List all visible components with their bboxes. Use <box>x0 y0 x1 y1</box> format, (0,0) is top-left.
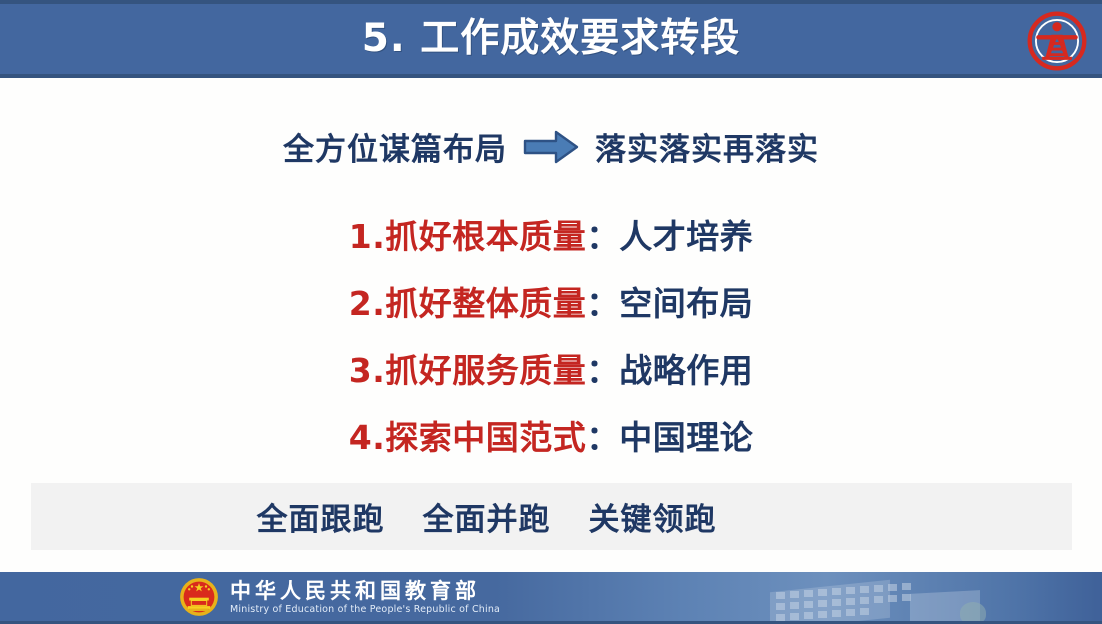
point-tail: 人才培养 <box>619 210 753 258</box>
list-item: 2.抓好整体质量 ： 空间布局 <box>0 267 1102 334</box>
list-item: 4.探索中国范式 ： 中国理论 <box>0 401 1102 468</box>
subtitle-right-text: 落实落实再落实 <box>595 124 819 169</box>
point-head: 3.抓好服务质量 <box>349 344 587 392</box>
national-emblem-of-china-icon <box>178 576 220 618</box>
ministry-building-photo <box>760 572 1060 624</box>
point-tail: 空间布局 <box>619 277 753 325</box>
point-tail: 中国理论 <box>619 411 753 459</box>
footer-title-en: Ministry of Education of the People's Re… <box>230 603 500 616</box>
list-item: 1.抓好根本质量 ： 人才培养 <box>0 200 1102 267</box>
point-head: 4.探索中国范式 <box>349 411 587 459</box>
point-tail: 战略作用 <box>619 344 753 392</box>
point-colon: ： <box>586 411 619 459</box>
summary-item: 关键领跑 <box>589 494 717 539</box>
list-item: 3.抓好服务质量 ： 战略作用 <box>0 334 1102 401</box>
point-head: 2.抓好整体质量 <box>349 277 587 325</box>
slide-canvas: 5. 工作成效要求转段 全方位谋篇布局 落实落实再落实 1.抓好根本质量 ： 人… <box>0 0 1102 624</box>
point-colon: ： <box>586 277 619 325</box>
summary-item: 全面跟跑 <box>257 494 385 539</box>
slide-footer: 中华人民共和国教育部 Ministry of Education of the … <box>0 572 1102 624</box>
footer-brand-texts: 中华人民共和国教育部 Ministry of Education of the … <box>230 578 500 616</box>
tianjin-university-emblem-icon <box>1026 10 1088 72</box>
points-list: 1.抓好根本质量 ： 人才培养 2.抓好整体质量 ： 空间布局 3.抓好服务质量… <box>0 200 1102 468</box>
subtitle-row: 全方位谋篇布局 落实落实再落实 <box>0 124 1102 169</box>
right-arrow-icon <box>523 130 579 164</box>
point-head: 1.抓好根本质量 <box>349 210 587 258</box>
slide-header: 5. 工作成效要求转段 <box>0 0 1102 78</box>
footer-title-cn: 中华人民共和国教育部 <box>230 578 500 603</box>
footer-brand: 中华人民共和国教育部 Ministry of Education of the … <box>178 576 500 618</box>
point-colon: ： <box>586 344 619 392</box>
summary-item: 全面并跑 <box>423 494 551 539</box>
summary-band-inner: 全面跟跑 全面并跑 关键领跑 <box>257 494 847 539</box>
subtitle-left-text: 全方位谋篇布局 <box>283 124 507 169</box>
summary-band: 全面跟跑 全面并跑 关键领跑 <box>31 483 1072 550</box>
point-colon: ： <box>586 210 619 258</box>
page-title: 5. 工作成效要求转段 <box>0 11 1102 67</box>
